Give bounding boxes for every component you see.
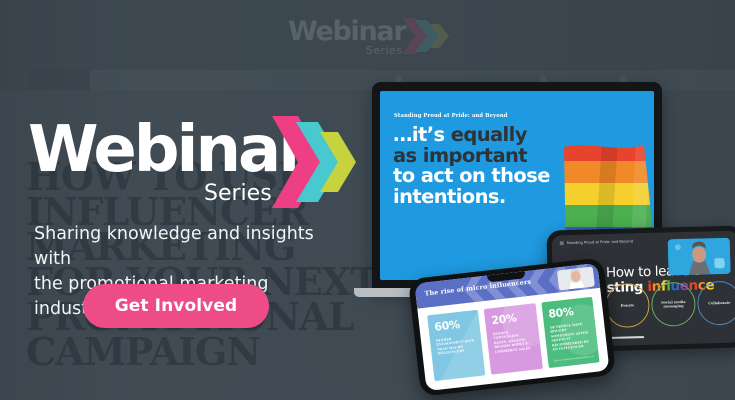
phone-webcam-thumbnail — [557, 266, 595, 290]
stat-card: 80% OF PEOPLE HAVE BOUGHT SOMETHING AFTE… — [541, 297, 599, 368]
device-mockup-cluster: Standing Proud at Pride: and Beyond …it’… — [330, 60, 735, 400]
headline-part-dark-1: equally — [451, 123, 527, 146]
hero-logo-series: Series — [204, 181, 272, 206]
tablet-slide-kicker: Standing Proud at Pride: and Beyond — [560, 239, 633, 245]
watermark-chevron-icon — [402, 18, 454, 59]
stat-card: 60% HIGHER ENGAGEMENT RATE THAN MACRO IN… — [427, 310, 485, 381]
phone-screen: The rise of micro influencers — [414, 263, 609, 391]
phone-body: The rise of micro influencers — [408, 257, 616, 396]
tablet-circle: Collaborate — [697, 281, 735, 326]
hero-tagline-line-1: Sharing knowledge and insights with — [34, 222, 334, 272]
headline-part-dark-2: as important — [393, 144, 527, 167]
headline-part-light-1: …it’s — [393, 123, 451, 146]
headline-part-light-3: intentions. — [393, 185, 506, 208]
hero-block: Webinar Series Sharing knowledge and ins… — [0, 0, 370, 400]
tablet-circle: Social media messaging — [651, 282, 696, 327]
promo-banner: HOW TO USE INFLUENCER MARKETING FOR YOUR… — [0, 0, 735, 400]
tablet-webcam-thumbnail — [668, 238, 731, 276]
watermark-logo-series: Series — [366, 44, 402, 57]
get-involved-button[interactable]: Get Involved — [83, 284, 269, 328]
kicker-square-icon — [560, 241, 564, 245]
stat-card: 20% HIGHER CONVERSION RATES, HELPING BRA… — [484, 303, 542, 374]
headline-part-light-2: to act on those — [393, 164, 550, 187]
laptop-slide-kicker: Standing Proud at Pride: and Beyond — [394, 113, 508, 119]
phone-mockup: The rise of micro influencers — [408, 257, 616, 396]
hero-logo-word: Webinar — [28, 118, 307, 182]
phone-stat-cards: 60% HIGHER ENGAGEMENT RATE THAN MACRO IN… — [427, 297, 599, 381]
tablet-kicker-text: Standing Proud at Pride: and Beyond — [567, 239, 633, 245]
tablet-circle: Donate — [605, 283, 650, 328]
